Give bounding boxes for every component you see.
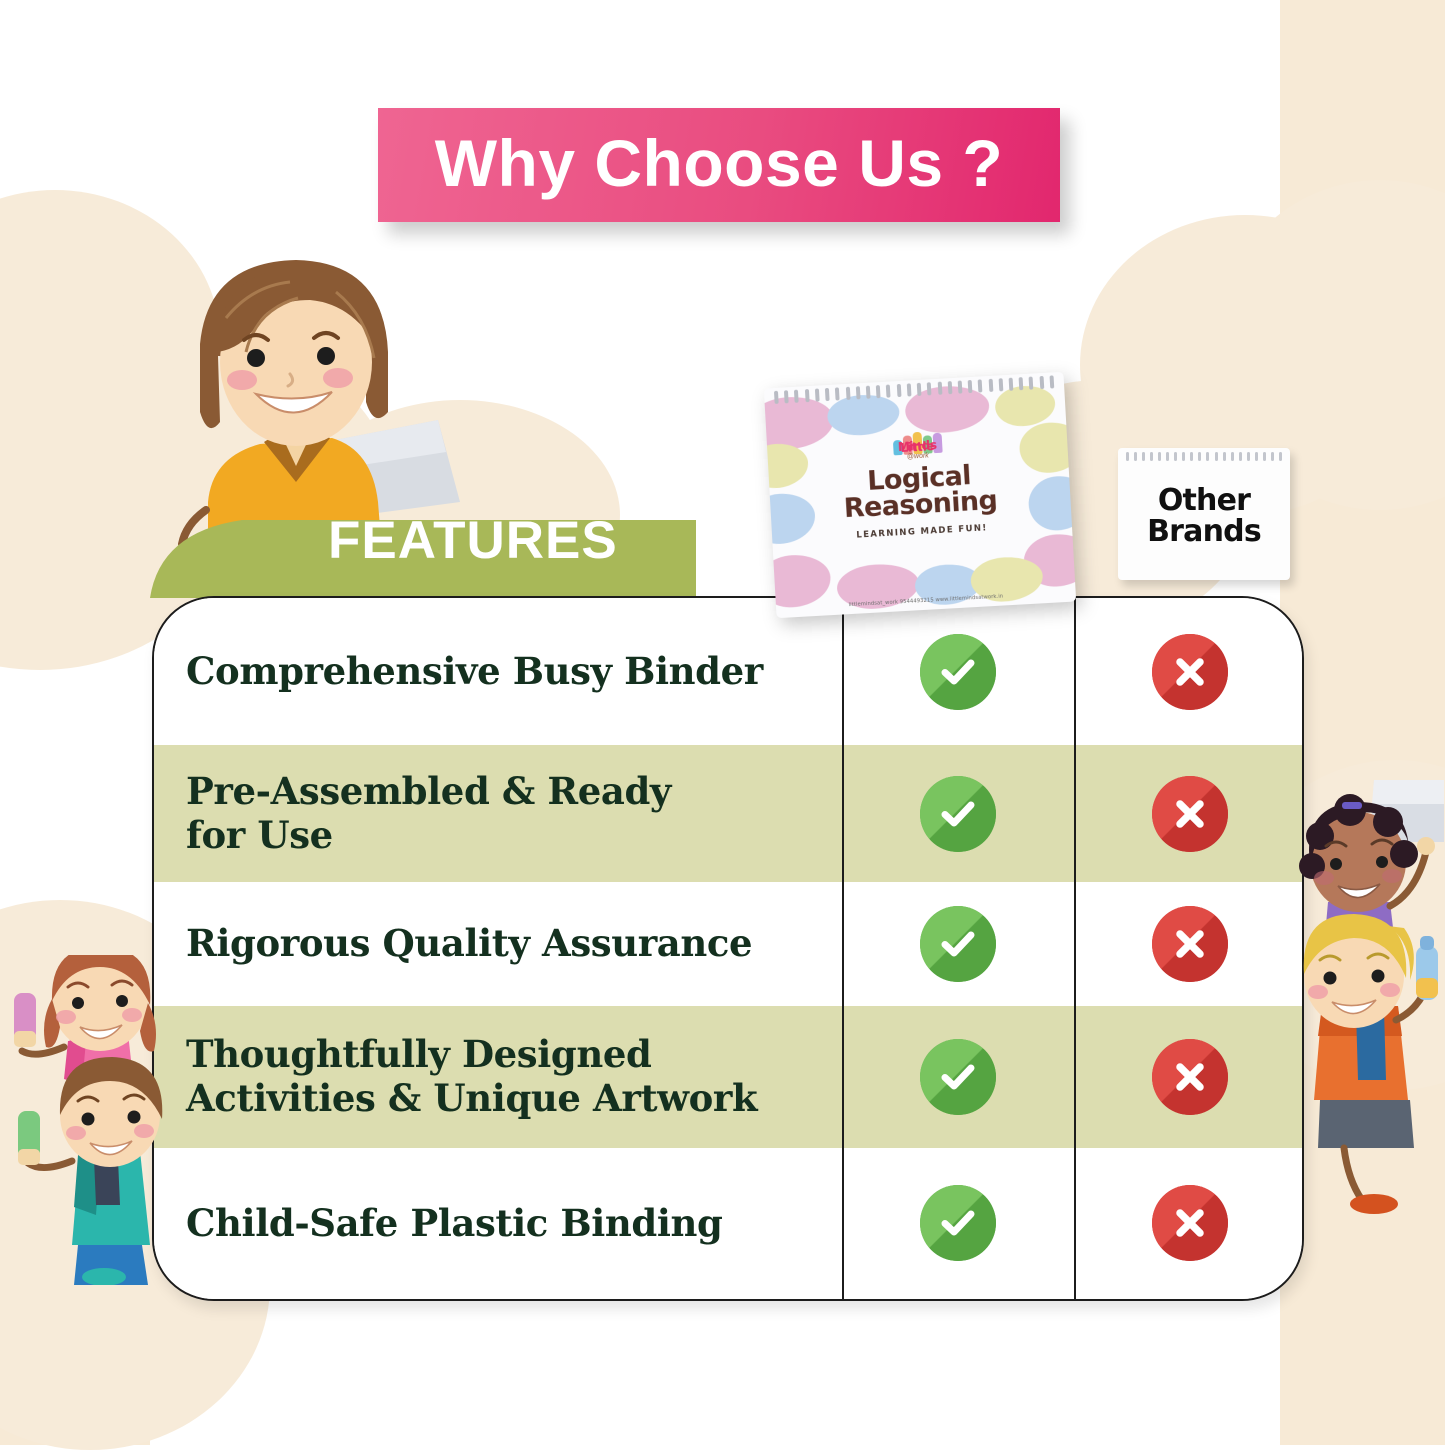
cross-circle-icon bbox=[1152, 776, 1228, 852]
comparison-table: Comprehensive Busy Binder Pre-Assembled … bbox=[152, 596, 1304, 1301]
features-banner: FEATURES bbox=[150, 498, 696, 598]
other-brands-card: Other Brands bbox=[1118, 448, 1290, 580]
page-title-banner: Why Choose Us ? bbox=[378, 108, 1060, 222]
other-brands-label: Other Brands bbox=[1147, 486, 1261, 547]
kids-illustration-right bbox=[1292, 780, 1445, 1230]
table-row: Pre-Assembled & Ready for Use bbox=[154, 745, 1302, 882]
table-row: Child-Safe Plastic Binding bbox=[154, 1148, 1302, 1299]
feature-label: Pre-Assembled & Ready for Use bbox=[154, 770, 842, 857]
book-title: Logical Reasoning bbox=[769, 457, 1071, 527]
spiral-binding bbox=[1126, 452, 1282, 461]
others-cell bbox=[1074, 634, 1304, 710]
ours-cell bbox=[842, 634, 1074, 710]
page-title: Why Choose Us ? bbox=[435, 130, 1004, 196]
comparison-rows: Comprehensive Busy Binder Pre-Assembled … bbox=[154, 598, 1302, 1299]
ours-cell bbox=[842, 1185, 1074, 1261]
ours-cell bbox=[842, 776, 1074, 852]
cross-circle-icon bbox=[1152, 906, 1228, 982]
others-cell bbox=[1074, 1185, 1304, 1261]
column-divider bbox=[842, 598, 844, 1299]
check-circle-icon bbox=[920, 634, 996, 710]
cross-circle-icon bbox=[1152, 1039, 1228, 1115]
check-circle-icon bbox=[920, 906, 996, 982]
table-row: Comprehensive Busy Binder bbox=[154, 598, 1302, 745]
feature-label: Thoughtfully Designed Activities & Uniqu… bbox=[154, 1033, 842, 1120]
others-cell bbox=[1074, 776, 1304, 852]
check-circle-icon bbox=[920, 1185, 996, 1261]
others-cell bbox=[1074, 1039, 1304, 1115]
feature-label: Rigorous Quality Assurance bbox=[154, 922, 842, 966]
features-banner-label: FEATURES bbox=[328, 514, 618, 567]
table-row: Rigorous Quality Assurance bbox=[154, 882, 1302, 1005]
table-row: Thoughtfully Designed Activities & Uniqu… bbox=[154, 1006, 1302, 1148]
check-circle-icon bbox=[920, 776, 996, 852]
cross-circle-icon bbox=[1152, 1185, 1228, 1261]
product-book-image: Little Minds @work Logical Reasoning LEA… bbox=[764, 372, 1076, 618]
kids-illustration-left bbox=[8, 955, 183, 1285]
feature-label: Comprehensive Busy Binder bbox=[154, 650, 842, 694]
feature-label: Child-Safe Plastic Binding bbox=[154, 1202, 842, 1246]
column-divider bbox=[1074, 598, 1076, 1299]
cross-circle-icon bbox=[1152, 634, 1228, 710]
brand-logo: Little Minds @work Logical Reasoning LEA… bbox=[766, 420, 1072, 546]
check-circle-icon bbox=[920, 1039, 996, 1115]
others-cell bbox=[1074, 906, 1304, 982]
ours-cell bbox=[842, 906, 1074, 982]
ours-cell bbox=[842, 1039, 1074, 1115]
book-cover: Little Minds @work Logical Reasoning LEA… bbox=[764, 372, 1076, 618]
